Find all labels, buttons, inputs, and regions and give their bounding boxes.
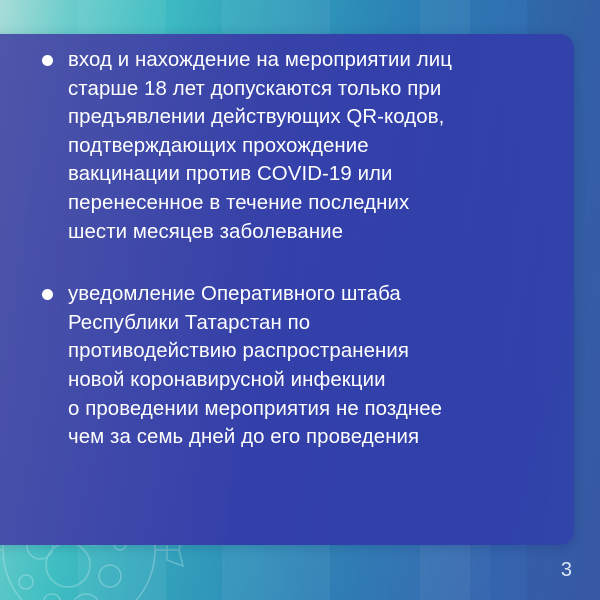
slide: вход и нахождение на мероприятии лиц ста… (0, 0, 600, 600)
bullet-text: уведомление Оперативного штаба Республик… (68, 280, 548, 452)
bullet-dot-icon (42, 55, 53, 66)
bullet-dot-icon (42, 289, 53, 300)
page-number: 3 (561, 560, 572, 580)
bullet-list: вход и нахождение на мероприятии лиц ста… (42, 46, 548, 452)
list-item: уведомление Оперативного штаба Республик… (42, 280, 548, 452)
content-panel: вход и нахождение на мероприятии лиц ста… (0, 34, 574, 545)
list-item: вход и нахождение на мероприятии лиц ста… (42, 46, 548, 246)
bullet-text: вход и нахождение на мероприятии лиц ста… (68, 46, 548, 246)
